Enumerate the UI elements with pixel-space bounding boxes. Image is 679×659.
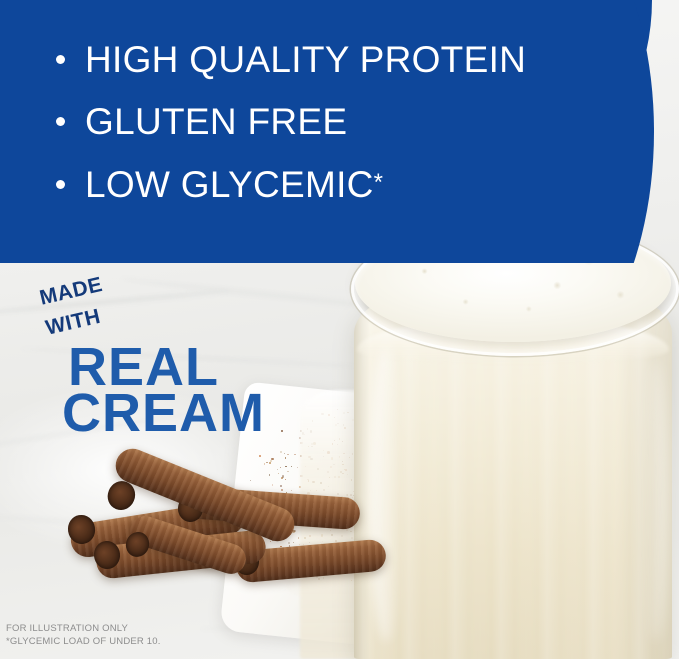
benefit-label: LOW GLYCEMIC xyxy=(85,166,374,203)
benefit-item-low-glycemic: LOW GLYCEMIC * xyxy=(56,166,383,203)
lockup-cream-text: CREAM xyxy=(62,386,265,440)
cream-shake-glass xyxy=(345,222,679,659)
legal-fineprint: FOR ILLUSTRATION ONLY *GLYCEMIC LOAD OF … xyxy=(6,623,161,648)
benefit-label: HIGH QUALITY PROTEIN xyxy=(85,41,526,78)
marble-vein xyxy=(0,289,230,317)
benefits-list: HIGH QUALITY PROTEIN GLUTEN FREE LOW GLY… xyxy=(0,0,679,263)
benefit-item-high-quality-protein: HIGH QUALITY PROTEIN xyxy=(56,41,526,78)
benefit-label: GLUTEN FREE xyxy=(85,103,347,140)
glass-highlight-right xyxy=(643,362,669,642)
fineprint-line-2: *GLYCEMIC LOAD OF UNDER 10. xyxy=(6,636,161,648)
fineprint-line-1: FOR ILLUSTRATION ONLY xyxy=(6,623,161,635)
bullet-dot-icon xyxy=(56,180,65,189)
benefit-item-gluten-free: GLUTEN FREE xyxy=(56,103,347,140)
bullet-dot-icon xyxy=(56,55,65,64)
bullet-dot-icon xyxy=(56,117,65,126)
product-marketing-image: HIGH QUALITY PROTEIN GLUTEN FREE LOW GLY… xyxy=(0,0,679,659)
glass-highlight-left xyxy=(369,342,403,642)
